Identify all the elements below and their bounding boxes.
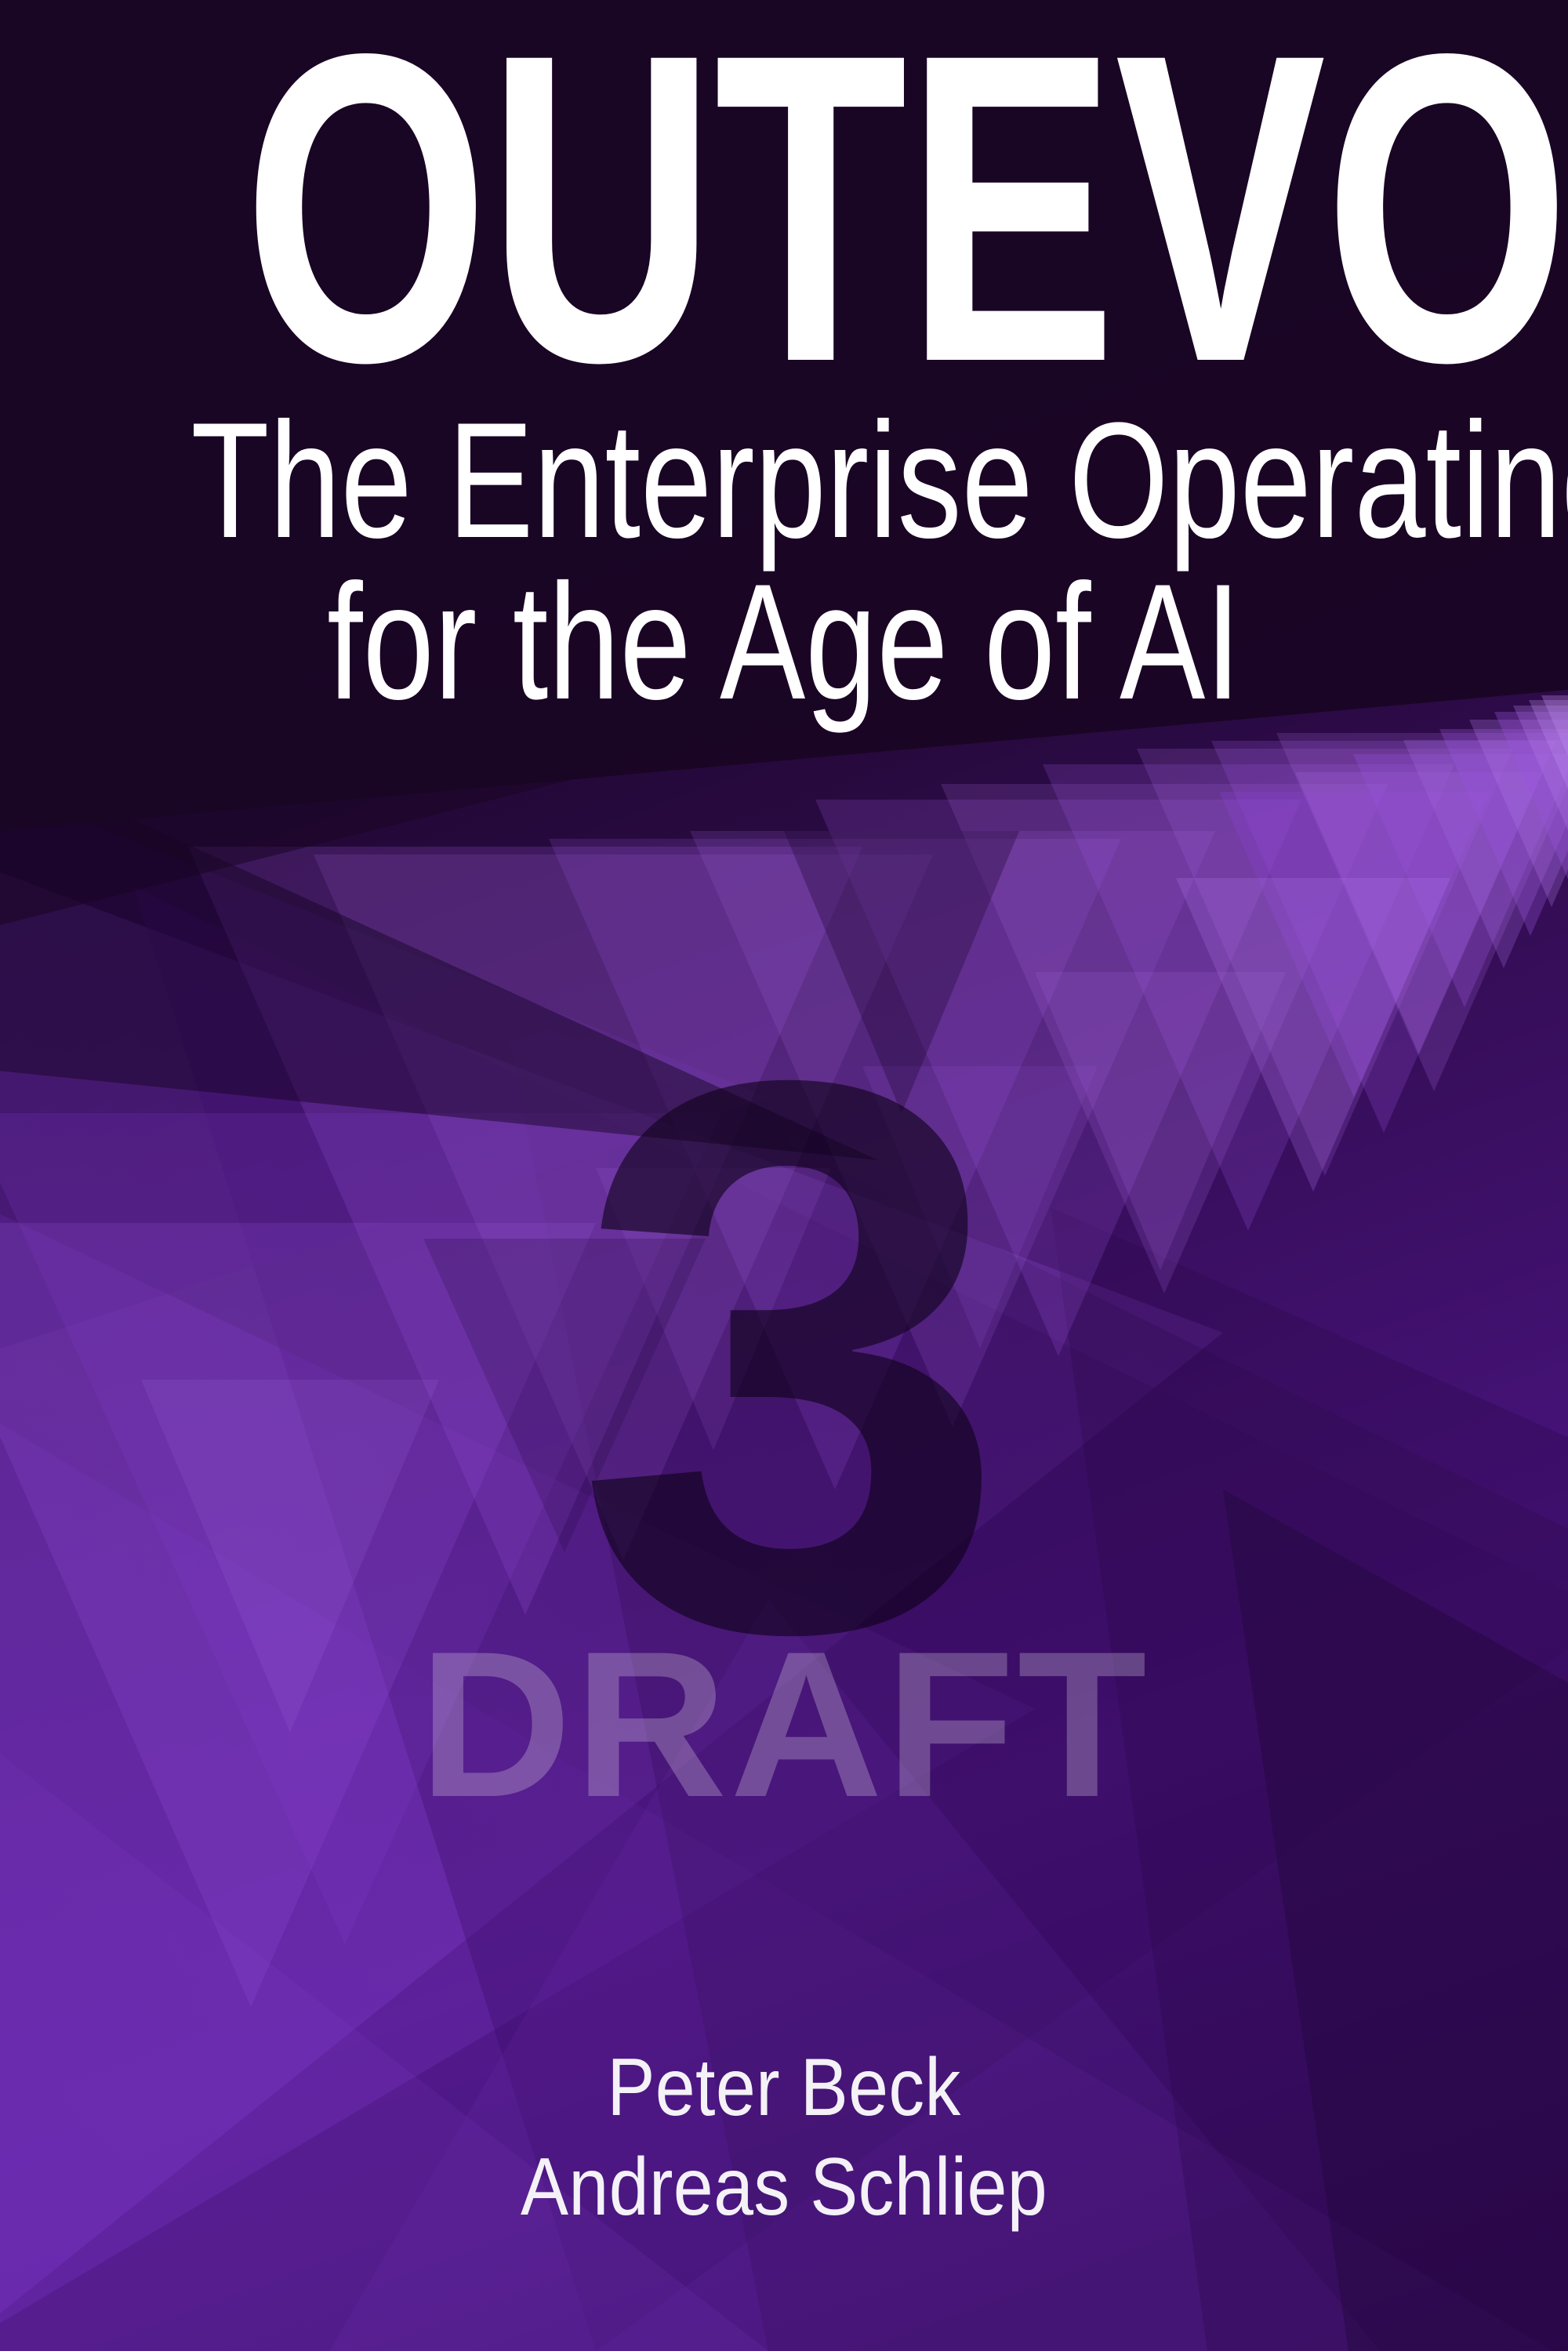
book-cover: 3 DRAFT OUTEVOLVE The Enterprise Operati… — [0, 0, 1568, 2351]
author-block: Peter Beck Andreas Schliep — [0, 2038, 1568, 2237]
author-name-primary: Peter Beck — [94, 2038, 1474, 2138]
author-name-secondary: Andreas Schliep — [94, 2138, 1474, 2237]
book-title: OUTEVOLVE — [220, 0, 1348, 370]
book-subtitle-line-2: for the Age of AI — [191, 561, 1377, 723]
book-subtitle: The Enterprise Operating Model for the A… — [172, 400, 1396, 723]
title-block: OUTEVOLVE The Enterprise Operating Model… — [0, 0, 1568, 723]
book-subtitle-line-1: The Enterprise Operating Model — [191, 400, 1377, 561]
